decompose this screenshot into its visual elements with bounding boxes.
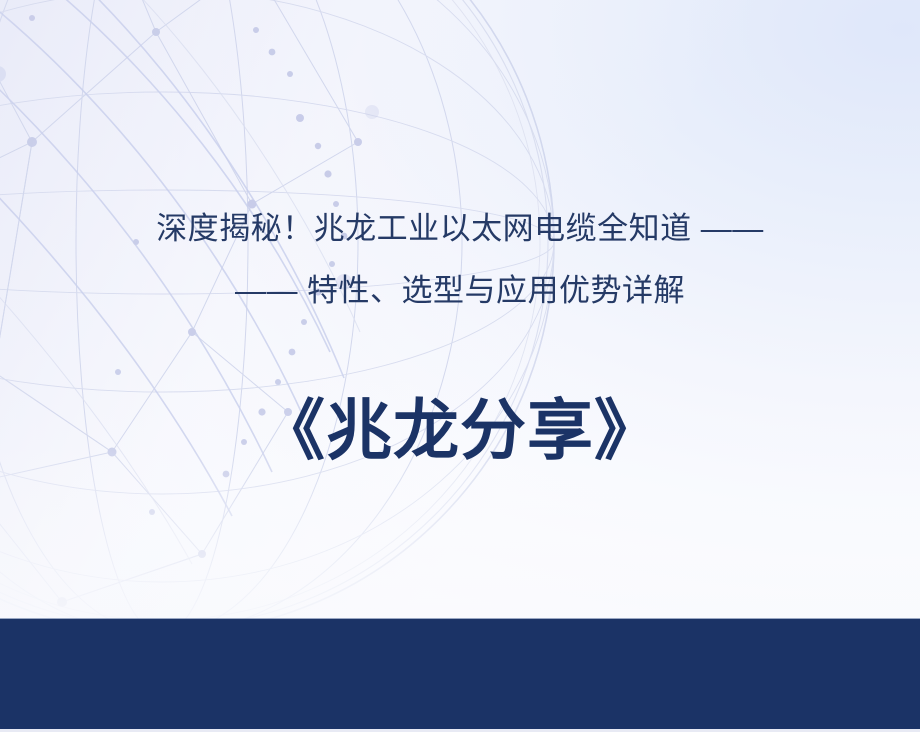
slide-subtitle: 深度揭秘！兆龙工业以太网电缆全知道 —— —— 特性、选型与应用优势详解 [84, 198, 836, 322]
slide-headline: 《兆龙分享》 [60, 388, 860, 472]
slide-content: 深度揭秘！兆龙工业以太网电缆全知道 —— —— 特性、选型与应用优势详解 《兆龙… [0, 0, 920, 620]
footer-band [0, 619, 920, 729]
title-slide: 深度揭秘！兆龙工业以太网电缆全知道 —— —— 特性、选型与应用优势详解 《兆龙… [0, 0, 920, 732]
